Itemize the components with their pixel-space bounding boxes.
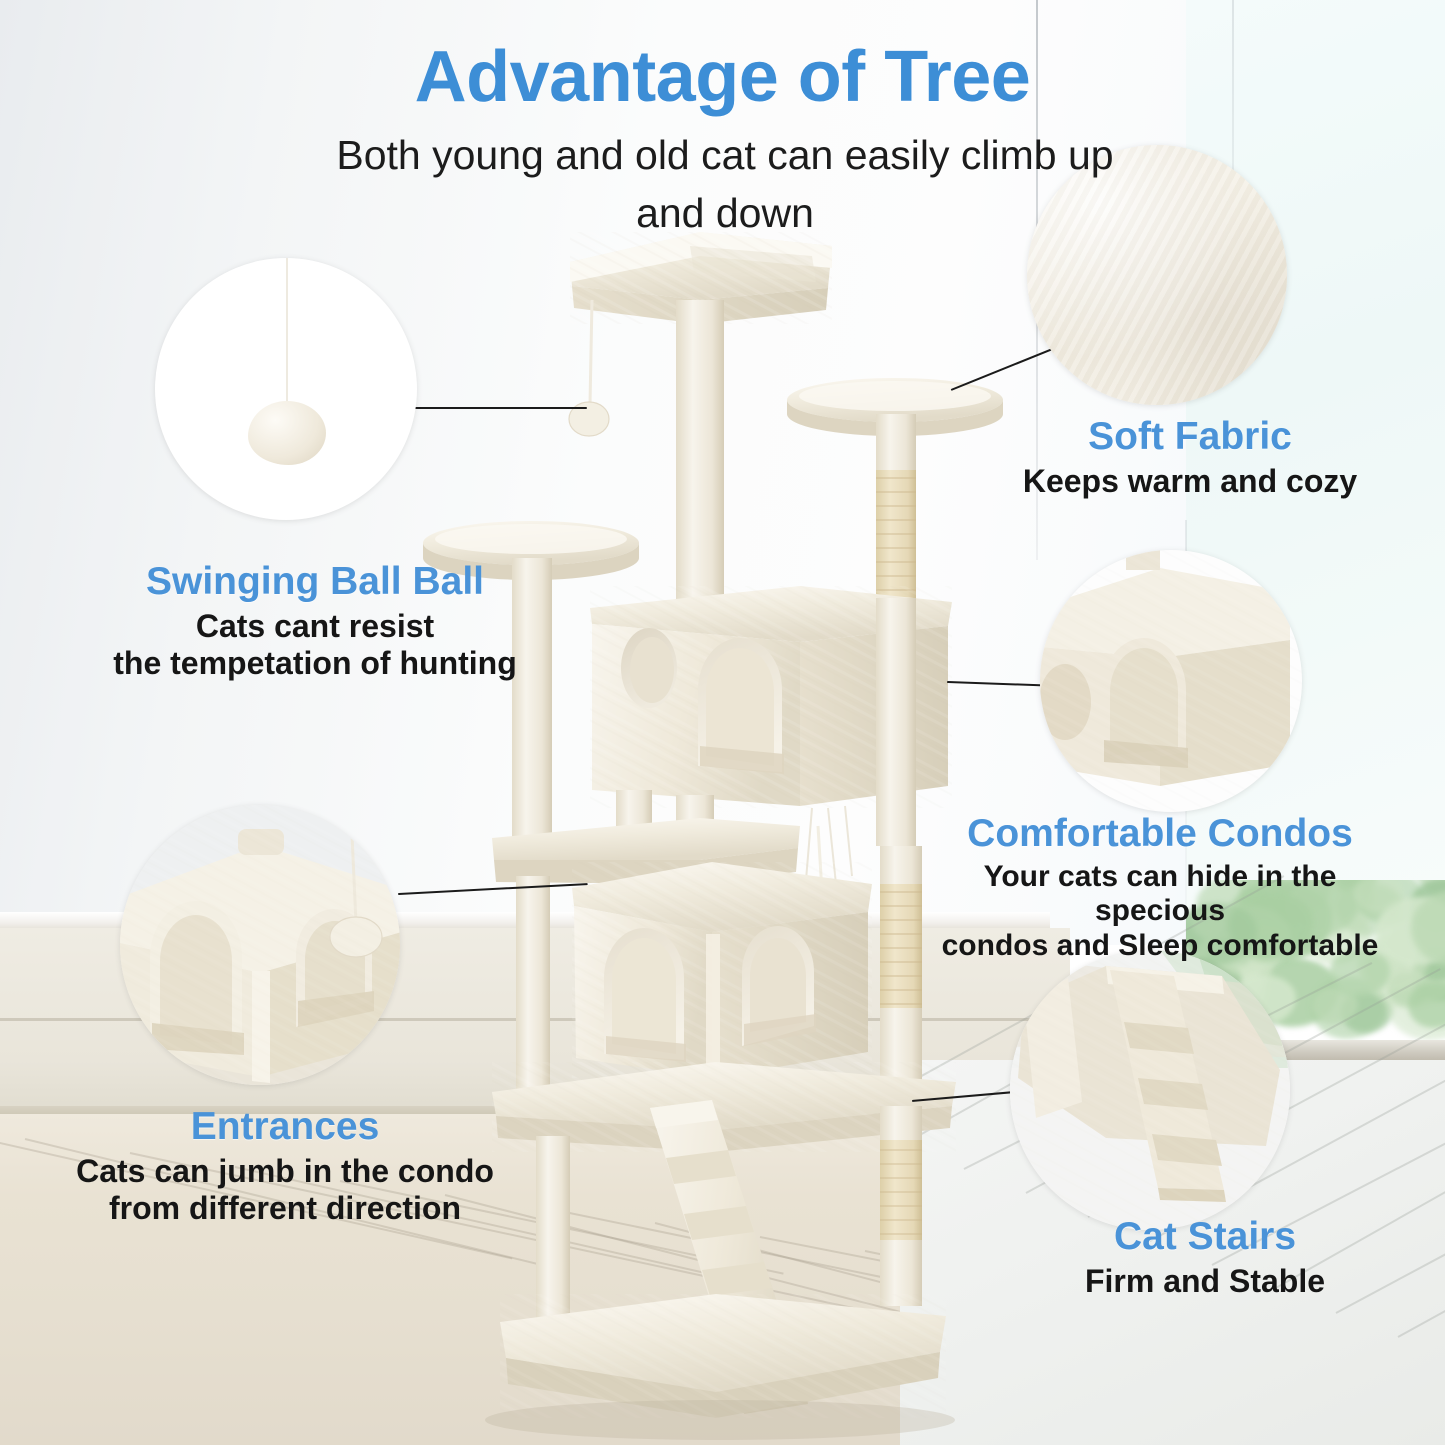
pom-pom-ball [248,401,326,465]
right-tall-post [876,598,916,846]
callout-desc-comfortable-condos-line2: condos and Sleep comfortable [920,929,1400,964]
bubble-comfortable-condos [1040,550,1302,812]
bubble-swinging-ball [155,258,417,520]
callout-desc-cat-stairs: Firm and Stable [1005,1263,1405,1300]
top-support-post [676,300,724,600]
entrances-closeup-illustration [120,805,400,1085]
callout-comfortable-condos: Comfortable Condos Your cats can hide in… [920,812,1400,964]
bubble-ball-content [155,258,417,520]
base-board [500,1294,946,1418]
callout-desc-soft-fabric: Keeps warm and cozy [965,463,1415,500]
infographic-canvas: Advantage of Tree Both young and old cat… [0,0,1445,1445]
callout-swinging-ball: Swinging Ball Ball Cats cant resist the … [35,560,595,682]
callout-cat-stairs: Cat Stairs Firm and Stable [1005,1215,1405,1300]
sisal-post-base [880,1140,922,1240]
stairs-closeup-illustration [1010,950,1290,1230]
callout-title-entrances: Entrances [25,1105,545,1149]
callout-title-comfortable-condos: Comfortable Condos [920,812,1400,856]
ball-string [286,258,288,408]
right-post-top [876,414,916,476]
floor-shadow [485,1400,955,1440]
page-subtitle: Both young and old cat can easily climb … [330,126,1120,242]
callout-desc-entrances-line2: from different direction [25,1190,545,1227]
callout-title-soft-fabric: Soft Fabric [965,415,1415,459]
callout-desc-swinging-ball-line2: the tempetation of hunting [35,645,595,682]
connector-line-swinging-ball [409,407,587,409]
right-post-joint [880,846,922,888]
callout-soft-fabric: Soft Fabric Keeps warm and cozy [965,415,1415,500]
bubble-cat-stairs [1010,950,1290,1230]
lower-condo [572,862,872,1080]
page-title: Advantage of Tree [0,36,1445,118]
callout-desc-swinging-ball-line1: Cats cant resist [35,608,595,645]
condo-closeup-illustration [1040,550,1302,812]
callout-title-cat-stairs: Cat Stairs [1005,1215,1405,1259]
callout-entrances: Entrances Cats can jumb in the condo fro… [25,1105,545,1227]
bubble-entrances [120,805,400,1085]
callout-desc-comfortable-condos-line1: Your cats can hide in the specious [920,860,1400,930]
callout-title-swinging-ball: Swinging Ball Ball [35,560,595,604]
callout-desc-entrances-line1: Cats can jumb in the condo [25,1153,545,1190]
